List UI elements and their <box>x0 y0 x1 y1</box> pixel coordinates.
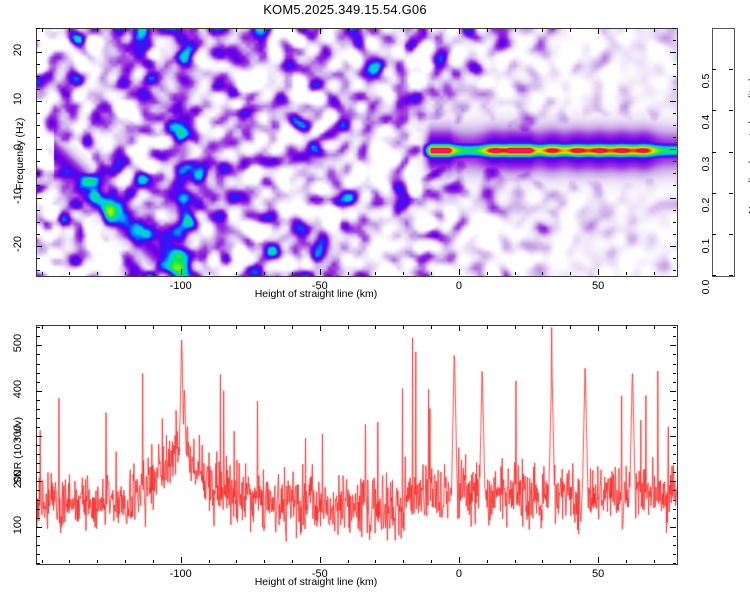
spectrogram-xtick-top <box>264 28 265 32</box>
snr-ytick-right <box>673 545 677 546</box>
snr-xticklabel: 0 <box>429 568 489 580</box>
snr-xtick <box>181 557 182 563</box>
spectrogram-yticklabel: -20 <box>12 232 24 256</box>
snr-ytick-right <box>673 354 677 355</box>
spectrogram-xtick-top <box>542 28 543 32</box>
spectrogram-ytick <box>36 40 40 41</box>
snr-ytick <box>36 472 40 473</box>
snr-xticklabel: 50 <box>568 568 628 580</box>
spectrogram-ytick-right <box>673 125 677 126</box>
spectrogram-xtick <box>264 272 265 276</box>
snr-xtick-top <box>181 325 182 331</box>
snr-xtick-top <box>570 325 571 329</box>
snr-xtick-top <box>542 325 543 329</box>
spectrogram-ytick <box>36 125 40 126</box>
spectrogram-xtick-top <box>375 28 376 32</box>
snr-trace-canvas <box>37 326 677 564</box>
snr-xtick <box>375 560 376 564</box>
spectrogram-ytick <box>36 28 40 29</box>
spectrogram-xtick <box>181 269 182 275</box>
snr-ytick <box>36 345 42 346</box>
snr-ytick <box>36 500 40 501</box>
colorbar-tick-right <box>729 152 733 153</box>
snr-y-axis-title: SNR (10 * v/v) <box>12 417 24 484</box>
spectrogram-ytick-right <box>673 270 677 271</box>
spectrogram-xtick <box>209 272 210 276</box>
spectrogram-xticklabel: 50 <box>568 280 628 292</box>
snr-ytick <box>36 327 40 328</box>
figure-canvas: KOM5.2025.349.15.54.G06 -100-50050-20-10… <box>0 0 750 600</box>
snr-ytick-right <box>673 445 677 446</box>
snr-xtick-top <box>125 325 126 329</box>
snr-xtick-top <box>598 325 599 331</box>
snr-xtick-top <box>348 325 349 329</box>
snr-xtick <box>236 560 237 564</box>
colorbar <box>712 28 735 277</box>
spectrogram-ytick-right <box>673 113 677 114</box>
spectrogram-xtick-top <box>69 28 70 32</box>
colorbar-ticklabel: 0.4 <box>700 108 712 136</box>
colorbar-ticklabel: 0.5 <box>700 67 712 95</box>
spectrogram-ytick-right <box>673 76 677 77</box>
snr-xtick <box>153 560 154 564</box>
snr-ytick-right <box>673 382 677 383</box>
spectrogram-ytick <box>36 161 40 162</box>
snr-xtick-top <box>487 325 488 329</box>
snr-ytick <box>36 400 40 401</box>
spectrogram-xtick <box>626 272 627 276</box>
snr-xtick <box>97 560 98 564</box>
snr-xtick <box>598 557 599 563</box>
spectrogram-xtick-top <box>626 28 627 32</box>
snr-xtick <box>431 560 432 564</box>
snr-yticklabel: 100 <box>12 513 24 537</box>
spectrogram-xtick <box>42 272 43 276</box>
snr-ytick <box>36 336 40 337</box>
colorbar-tick-right <box>729 110 733 111</box>
snr-ytick <box>36 436 42 437</box>
snr-ytick <box>36 545 40 546</box>
spectrogram-ytick-right <box>673 161 677 162</box>
snr-xtick <box>654 560 655 564</box>
spectrogram-ytick-right <box>670 246 676 247</box>
spectrogram-ytick <box>36 258 40 259</box>
snr-xtick-top <box>42 325 43 329</box>
snr-x-axis-title: Height of straight line (km) <box>216 576 416 588</box>
colorbar-tick-right <box>729 234 733 235</box>
snr-xtick <box>292 560 293 564</box>
snr-ytick <box>36 490 40 491</box>
snr-ytick <box>36 418 40 419</box>
spectrogram-ytick <box>36 270 40 271</box>
snr-xtick <box>626 560 627 564</box>
spectrogram-ytick <box>36 137 40 138</box>
colorbar-tick <box>712 275 716 276</box>
spectrogram-xtick <box>459 269 460 275</box>
snr-xtick <box>42 560 43 564</box>
spectrogram-xtick-top <box>654 28 655 32</box>
snr-xtick-top <box>209 325 210 329</box>
snr-xtick <box>264 560 265 564</box>
spectrogram-yticklabel: 20 <box>12 38 24 62</box>
spectrogram-yticklabel: 10 <box>12 87 24 111</box>
spectrogram-ytick-right <box>673 258 677 259</box>
snr-xtick <box>69 560 70 564</box>
spectrogram-ytick <box>36 185 40 186</box>
spectrogram-xtick <box>431 272 432 276</box>
spectrogram-xtick-top <box>153 28 154 32</box>
snr-xtick-top <box>403 325 404 329</box>
snr-xtick-top <box>153 325 154 329</box>
spectrogram-xtick <box>69 272 70 276</box>
spectrogram-xtick-top <box>209 28 210 32</box>
snr-xtick <box>542 560 543 564</box>
snr-ytick <box>36 554 40 555</box>
spectrogram-xtick-top <box>459 28 460 34</box>
snr-ytick <box>36 364 40 365</box>
snr-xticklabel: -100 <box>151 568 211 580</box>
snr-ytick-right <box>673 518 677 519</box>
snr-plot-area <box>36 325 678 565</box>
snr-xtick-top <box>431 325 432 329</box>
snr-xtick <box>320 557 321 563</box>
snr-ytick-right <box>673 490 677 491</box>
spectrogram-xtick-top <box>125 28 126 32</box>
snr-yticklabel: 400 <box>12 377 24 401</box>
spectrogram-ytick <box>36 210 40 211</box>
snr-ytick-right <box>673 563 677 564</box>
snr-ytick-right <box>673 364 677 365</box>
snr-yticklabel: 500 <box>12 331 24 355</box>
snr-xtick-top <box>515 325 516 329</box>
spectrogram-ytick-right <box>670 52 676 53</box>
snr-ytick <box>36 382 40 383</box>
spectrogram-xticklabel: -100 <box>151 280 211 292</box>
colorbar-gradient <box>713 29 734 276</box>
spectrogram-ytick <box>36 234 40 235</box>
spectrogram-ytick-right <box>673 234 677 235</box>
colorbar-tick-right <box>729 275 733 276</box>
colorbar-ticklabel: 0.2 <box>700 191 712 219</box>
spectrogram-xtick <box>125 272 126 276</box>
snr-xtick <box>125 560 126 564</box>
snr-ytick-right <box>670 391 676 392</box>
snr-ytick-right <box>673 536 677 537</box>
spectrogram-xtick-top <box>570 28 571 32</box>
spectrogram-ytick-right <box>673 137 677 138</box>
snr-xtick <box>348 560 349 564</box>
snr-ytick-right <box>670 436 676 437</box>
colorbar-tick <box>712 69 716 70</box>
spectrogram-ytick-right <box>673 210 677 211</box>
spectrogram-image <box>37 29 677 276</box>
spectrogram-ytick <box>36 64 40 65</box>
snr-xtick-top <box>264 325 265 329</box>
snr-ytick-right <box>673 554 677 555</box>
colorbar-tick <box>712 110 716 111</box>
snr-ytick-right <box>673 373 677 374</box>
spectrogram-ytick-right <box>670 198 676 199</box>
spectrogram-xtick-top <box>487 28 488 32</box>
figure-title: KOM5.2025.349.15.54.G06 <box>0 2 690 17</box>
snr-ytick <box>36 518 40 519</box>
snr-ytick <box>36 445 40 446</box>
colorbar-tick <box>712 193 716 194</box>
spectrogram-ytick <box>36 149 42 150</box>
spectrogram-ytick-right <box>673 173 677 174</box>
spectrogram-xtick <box>292 272 293 276</box>
spectrogram-xtick <box>97 272 98 276</box>
spectrogram-ytick <box>36 89 40 90</box>
spectrogram-xtick-top <box>97 28 98 32</box>
spectrogram-ytick <box>36 222 40 223</box>
spectrogram-ytick-right <box>673 89 677 90</box>
spectrogram-y-axis-title: Frequency (Hz) <box>14 117 26 189</box>
snr-xtick <box>459 557 460 563</box>
spectrogram-xtick <box>348 272 349 276</box>
spectrogram-xtick <box>320 269 321 275</box>
spectrogram-xtick <box>515 272 516 276</box>
spectrogram-xtick <box>153 272 154 276</box>
spectrogram-ytick-right <box>673 64 677 65</box>
snr-xtick-top <box>292 325 293 329</box>
spectrogram-xtick-top <box>320 28 321 34</box>
snr-ytick <box>36 536 40 537</box>
snr-xtick-top <box>626 325 627 329</box>
colorbar-tick <box>712 152 716 153</box>
snr-ytick-right <box>673 472 677 473</box>
colorbar-tick-right <box>729 69 733 70</box>
colorbar-ticklabel: 0.3 <box>700 150 712 178</box>
snr-xtick-top <box>97 325 98 329</box>
spectrogram-ytick <box>36 173 40 174</box>
snr-ytick-right <box>673 327 677 328</box>
snr-xtick <box>487 560 488 564</box>
snr-xtick-top <box>69 325 70 329</box>
spectrogram-xtick-top <box>181 28 182 34</box>
snr-ytick <box>36 454 40 455</box>
spectrogram-xticklabel: 0 <box>429 280 489 292</box>
spectrogram-xtick <box>598 269 599 275</box>
snr-xtick-top <box>459 325 460 331</box>
snr-ytick <box>36 391 42 392</box>
spectrogram-xtick-top <box>236 28 237 32</box>
colorbar-tick <box>712 234 716 235</box>
snr-ytick-right <box>673 500 677 501</box>
snr-ytick-right <box>673 400 677 401</box>
spectrogram-ytick <box>36 101 42 102</box>
spectrogram-xtick-top <box>348 28 349 32</box>
spectrogram-xtick-top <box>292 28 293 32</box>
spectrogram-ytick-right <box>670 101 676 102</box>
spectrogram-ytick <box>36 113 40 114</box>
snr-xtick-top <box>654 325 655 329</box>
colorbar-ticklabel: 0.1 <box>700 232 712 260</box>
snr-xtick <box>403 560 404 564</box>
spectrogram-ytick-right <box>670 149 676 150</box>
snr-ytick-right <box>673 418 677 419</box>
spectrogram-ytick-right <box>673 28 677 29</box>
snr-xtick-top <box>236 325 237 329</box>
snr-ytick <box>36 427 40 428</box>
snr-ytick-right <box>673 454 677 455</box>
snr-ytick-right <box>670 527 676 528</box>
snr-ytick-right <box>673 509 677 510</box>
spectrogram-ytick-right <box>673 40 677 41</box>
spectrogram-plot-area <box>36 28 678 277</box>
snr-ytick <box>36 409 40 410</box>
spectrogram-ytick-right <box>673 185 677 186</box>
snr-xtick <box>209 560 210 564</box>
spectrogram-xtick <box>487 272 488 276</box>
colorbar-ticklabel: 0.0 <box>700 273 712 301</box>
snr-ytick-right <box>673 427 677 428</box>
snr-ytick <box>36 527 42 528</box>
snr-ytick-right <box>673 463 677 464</box>
spectrogram-xtick-top <box>403 28 404 32</box>
spectrogram-xtick <box>542 272 543 276</box>
snr-xtick <box>515 560 516 564</box>
snr-xtick <box>570 560 571 564</box>
snr-ytick <box>36 354 40 355</box>
spectrogram-xtick <box>236 272 237 276</box>
snr-ytick-right <box>670 481 676 482</box>
snr-ytick-right <box>670 345 676 346</box>
snr-ytick <box>36 563 40 564</box>
spectrogram-xtick <box>654 272 655 276</box>
snr-ytick-right <box>673 409 677 410</box>
snr-xtick-top <box>375 325 376 329</box>
colorbar-tick-right <box>729 193 733 194</box>
spectrogram-x-axis-title: Height of straight line (km) <box>216 288 416 300</box>
spectrogram-xtick-top <box>42 28 43 32</box>
spectrogram-ytick <box>36 76 40 77</box>
spectrogram-xtick <box>570 272 571 276</box>
snr-xtick-top <box>320 325 321 331</box>
spectrogram-xtick-top <box>431 28 432 32</box>
snr-ytick <box>36 463 40 464</box>
spectrogram-xtick <box>375 272 376 276</box>
spectrogram-ytick <box>36 246 42 247</box>
spectrogram-xtick <box>403 272 404 276</box>
spectrogram-ytick-right <box>673 222 677 223</box>
spectrogram-xtick-top <box>515 28 516 32</box>
snr-ytick-right <box>673 336 677 337</box>
snr-ytick <box>36 373 40 374</box>
snr-ytick <box>36 481 42 482</box>
spectrogram-ytick <box>36 198 42 199</box>
snr-ytick <box>36 509 40 510</box>
spectrogram-xtick-top <box>598 28 599 34</box>
spectrogram-ytick <box>36 52 42 53</box>
